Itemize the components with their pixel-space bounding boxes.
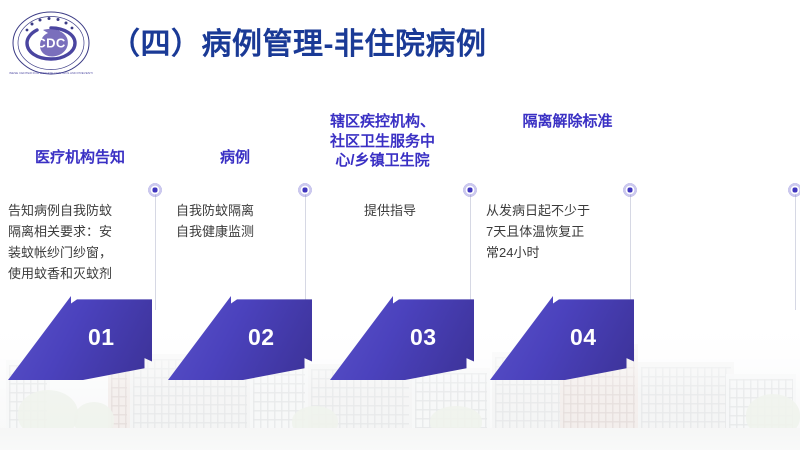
column-body-1: 告知病例自我防蚊 隔离相关要求：安 装蚊帐纱门纱窗， 使用蚊香和灭蚊剂	[8, 200, 150, 284]
column-divider	[470, 190, 471, 310]
column-divider	[630, 190, 631, 310]
column-divider	[305, 190, 306, 310]
step-number-2: 02	[248, 324, 275, 351]
connector-dot	[297, 182, 313, 198]
column-divider	[795, 190, 796, 310]
step-number-3: 03	[410, 324, 437, 351]
svg-text:CDC: CDC	[36, 36, 66, 51]
connector-dot	[147, 182, 163, 198]
connector-dot	[787, 182, 800, 198]
svg-text:CHINESE CENTER FOR DISEASE CON: CHINESE CENTER FOR DISEASE CONTROL AND P…	[9, 71, 93, 75]
column-body-2: 自我防蚊隔离 自我健康监测	[176, 200, 306, 242]
connector-dot	[462, 182, 478, 198]
column-header-1: 医疗机构告知	[10, 148, 150, 168]
column-body-3: 提供指导	[330, 200, 450, 221]
column-header-2: 病例	[175, 148, 295, 168]
step-number-1: 01	[88, 324, 115, 351]
china-cdc-logo: CDC CHINESE CENTER FOR DISEASE CONTROL A…	[9, 8, 93, 78]
slide: CDC CHINESE CENTER FOR DISEASE CONTROL A…	[0, 0, 800, 450]
column-divider	[155, 190, 156, 310]
column-body-4: 从发病日起不少于 7天且体温恢复正 常24小时	[486, 200, 636, 263]
page-title: （四）病例管理-非住院病例	[110, 19, 487, 63]
connector-dot	[622, 182, 638, 198]
column-header-4: 隔离解除标准	[480, 112, 655, 132]
column-header-3: 辖区疾控机构、 社区卫生服务中 心/乡镇卫生院	[300, 112, 465, 171]
step-number-4: 04	[570, 324, 597, 351]
